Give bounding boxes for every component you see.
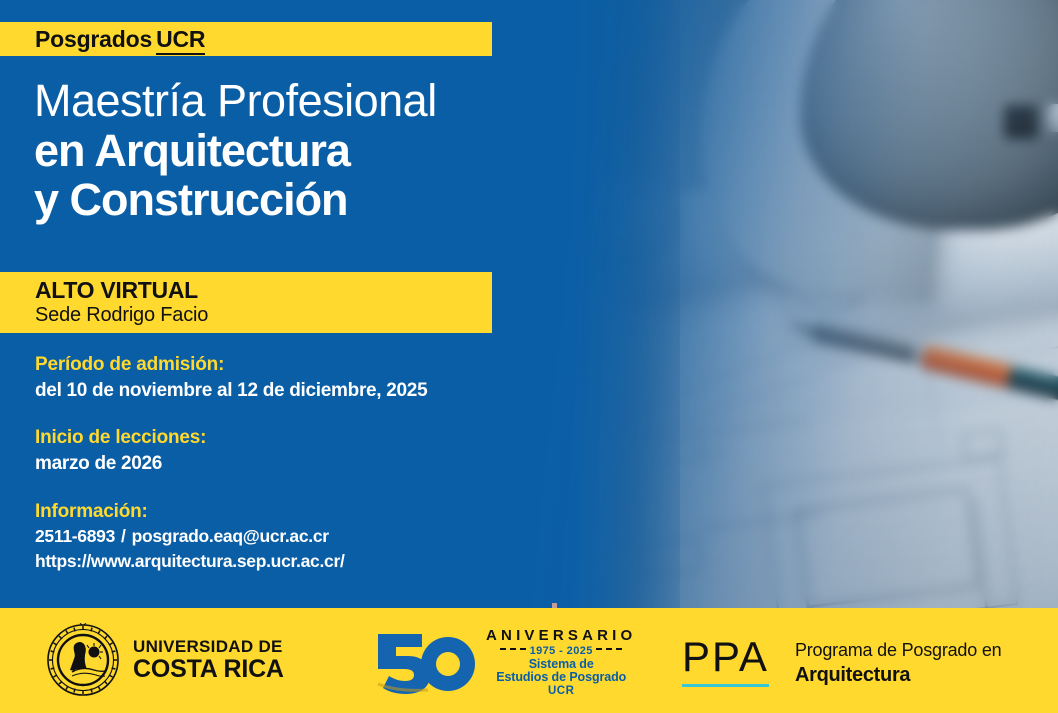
- anniversary-years-row: 1975 - 2025: [486, 646, 636, 658]
- contact-label: Información:: [35, 499, 555, 525]
- title-line-1: Maestría Profesional: [34, 78, 504, 124]
- ppa-wordmark: Programa de Posgrado en Arquitectura: [795, 636, 1002, 687]
- title-line-3: y Construcción: [34, 177, 504, 223]
- brand-word-posgrados: Posgrados: [35, 26, 152, 52]
- info-block: Período de admisión: del 10 de noviembre…: [35, 352, 555, 595]
- start-value: marzo de 2026: [35, 451, 555, 477]
- ppa-acronym-mark: PPA: [682, 636, 769, 687]
- admission-label: Período de admisión:: [35, 352, 555, 378]
- email-address[interactable]: posgrado.eaq@ucr.ac.cr: [132, 526, 329, 546]
- brand-lockup: PosgradosUCR: [35, 26, 205, 53]
- poster-root: PosgradosUCR Maestría Profesional en Arq…: [0, 0, 1058, 713]
- start-group: Inicio de lecciones: marzo de 2026: [35, 425, 555, 476]
- page-title: Maestría Profesional en Arquitectura y C…: [34, 78, 504, 223]
- anniversary-text-block: ANIVERSARIO 1975 - 2025 Sistema de Estud…: [486, 626, 636, 697]
- campus-label: Sede Rodrigo Facio: [35, 303, 492, 327]
- phone-number[interactable]: 2511-6893: [35, 526, 115, 546]
- ppa-wordmark-line-2: Arquitectura: [795, 663, 1002, 687]
- contact-group: Información: 2511-6893/posgrado.eaq@ucr.…: [35, 499, 555, 574]
- ucr-wordmark-line-1: UNIVERSIDAD DE: [133, 638, 284, 655]
- modality-band: ALTO VIRTUAL Sede Rodrigo Facio: [0, 272, 492, 333]
- website-url[interactable]: https://www.arquitectura.sep.ucr.ac.cr/: [35, 549, 555, 574]
- admission-value: del 10 de noviembre al 12 de diciembre, …: [35, 378, 555, 404]
- anniversary-org-line-2: Estudios de Posgrado: [486, 671, 636, 684]
- ucr-logo: UNIVERSIDAD DE COSTA RICA: [45, 622, 284, 698]
- admission-group: Período de admisión: del 10 de noviembre…: [35, 352, 555, 403]
- contact-line-phone-email: 2511-6893/posgrado.eaq@ucr.ac.cr: [35, 524, 555, 549]
- brand-word-ucr: UCR: [156, 26, 205, 55]
- start-label: Inicio de lecciones:: [35, 425, 555, 451]
- modality-label: ALTO VIRTUAL: [35, 278, 492, 303]
- anniversary-org-line-3: UCR: [486, 685, 636, 697]
- ppa-acronym: PPA: [682, 636, 769, 678]
- anniversary-title: ANIVERSARIO: [486, 628, 636, 644]
- footer-bar: UNIVERSIDAD DE COSTA RICA ANIVERSARIO 19…: [0, 608, 1058, 713]
- contact-separator: /: [115, 524, 132, 549]
- anniversary-logo: ANIVERSARIO 1975 - 2025 Sistema de Estud…: [370, 626, 636, 697]
- anniversary-years: 1975 - 2025: [530, 645, 593, 657]
- ucr-wordmark: UNIVERSIDAD DE COSTA RICA: [133, 638, 284, 682]
- ppa-logo: PPA Programa de Posgrado en Arquitectura: [682, 636, 1001, 687]
- ppa-wordmark-line-1: Programa de Posgrado en: [795, 640, 1002, 662]
- ucr-seal-icon: [45, 622, 121, 698]
- title-line-2: en Arquitectura: [34, 128, 504, 174]
- ucr-wordmark-line-2: COSTA RICA: [133, 657, 284, 682]
- anniversary-number-icon: [370, 628, 480, 694]
- dash-rule-right: [596, 648, 622, 650]
- dash-rule-left: [500, 648, 526, 650]
- brand-band: PosgradosUCR: [0, 22, 492, 56]
- ppa-underline-rule: [682, 684, 769, 687]
